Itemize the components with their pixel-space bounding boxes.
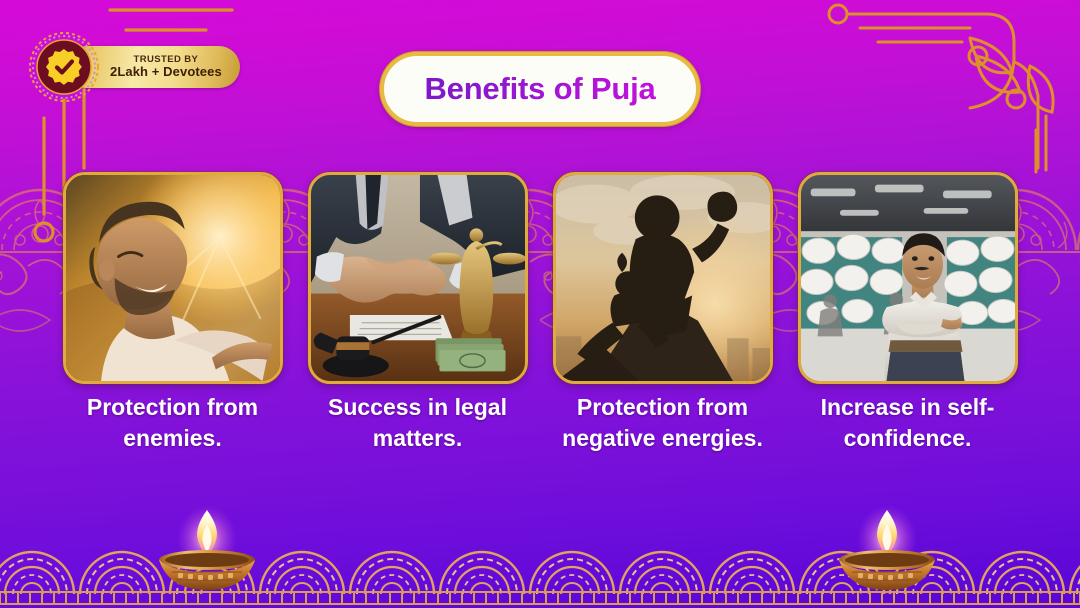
- benefit-caption: Protection from enemies.: [63, 392, 283, 453]
- page-title-text: Benefits of Puja: [424, 71, 655, 107]
- benefit-card[interactable]: [63, 172, 283, 384]
- diya-lamp-icon: [152, 506, 262, 598]
- gold-leaves-corner-ornament: [800, 0, 1080, 180]
- happy-man-sunset-photo: [66, 175, 280, 381]
- benefit-captions-row: Protection from enemies. Success in lega…: [0, 392, 1080, 453]
- victorious-silhouette-photo: [556, 175, 770, 381]
- verified-check-seal-icon: [28, 31, 100, 103]
- trust-badge: TRUSTED BY 2Lakh + Devotees: [28, 37, 240, 97]
- trust-badge-line2: 2Lakh + Devotees: [110, 65, 222, 80]
- legal-handshake-justice-photo: [311, 175, 525, 381]
- benefits-of-puja-poster: TRUSTED BY 2Lakh + Devotees Benefits of …: [0, 0, 1080, 608]
- benefit-card[interactable]: [553, 172, 773, 384]
- confident-businessman-factory-photo: [801, 175, 1015, 381]
- benefit-card[interactable]: [798, 172, 1018, 384]
- page-title: Benefits of Puja: [380, 52, 700, 126]
- benefit-caption: Increase in self-confidence.: [798, 392, 1018, 453]
- benefit-card[interactable]: [308, 172, 528, 384]
- benefit-caption: Success in legal matters.: [308, 392, 528, 453]
- diya-lamp-icon: [832, 506, 942, 598]
- benefit-caption: Protection from negative energies.: [553, 392, 773, 453]
- benefit-cards-row: [0, 172, 1080, 384]
